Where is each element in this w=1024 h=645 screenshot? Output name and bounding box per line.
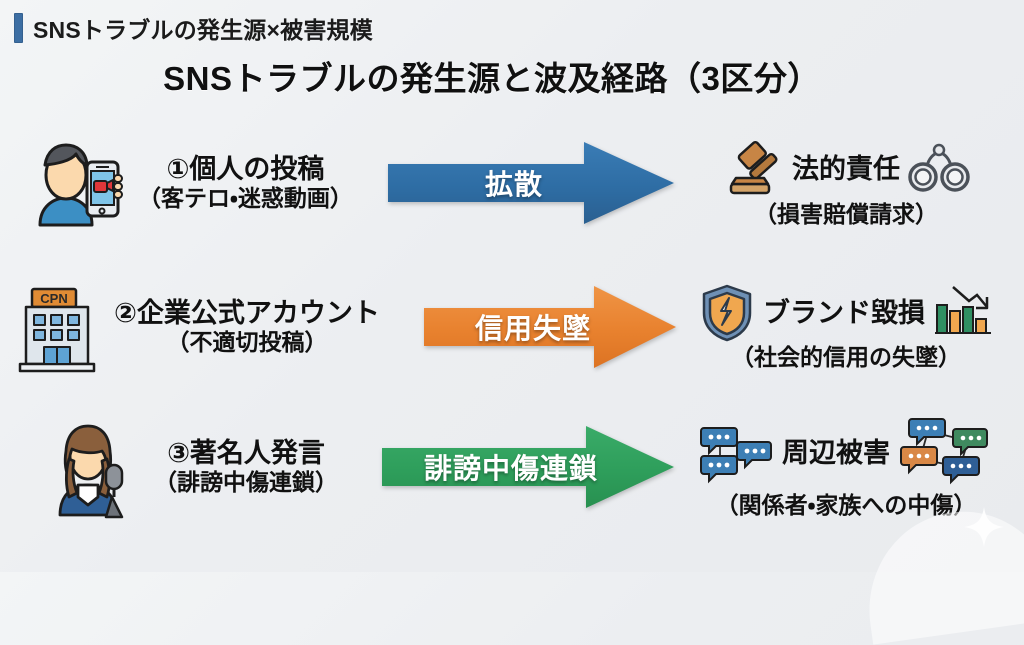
speech-bubble-network-icon bbox=[698, 420, 774, 486]
outcome-main-2: ブランド毀損 bbox=[763, 298, 925, 328]
outcome-main-1: 法的責任 bbox=[792, 154, 900, 184]
arrow-1: 拡散 bbox=[388, 142, 674, 224]
outcome-sub-2: （社会的信用の失墜） bbox=[731, 345, 961, 371]
company-building-icon: CPN bbox=[14, 279, 106, 375]
source-main-1: ①個人の投稿 bbox=[166, 154, 324, 184]
source-main-2: ②企業公式アカウント bbox=[114, 298, 380, 328]
source-sub-3: （誹謗中傷連鎖） bbox=[154, 470, 338, 496]
accent-bar bbox=[14, 13, 23, 43]
outcome-block-2: ブランド毀損 bbox=[668, 272, 1024, 382]
building-sign-text: CPN bbox=[40, 291, 67, 306]
source-block-3: ③著名人発言 （誹謗中傷連鎖） bbox=[48, 412, 388, 522]
source-text-3: ③著名人発言 （誹謗中傷連鎖） bbox=[154, 438, 338, 496]
slide-canvas: SNSトラブルの発生源×被害規模 SNSトラブルの発生源と波及経路（3区分） bbox=[0, 0, 1024, 572]
broken-shield-icon bbox=[699, 283, 755, 343]
source-main-3: ③著名人発言 bbox=[167, 438, 325, 468]
flow-row-3: ③著名人発言 （誹謗中傷連鎖） 誹謗中傷連鎖 bbox=[0, 412, 1024, 522]
arrow-2: 信用失墜 bbox=[424, 286, 676, 368]
declining-bar-chart-icon bbox=[933, 285, 993, 341]
arrow-3: 誹謗中傷連鎖 bbox=[382, 426, 674, 508]
source-text-1: ①個人の投稿 （客テロ・迷惑動画） bbox=[138, 154, 353, 212]
outcome-main-3: 周辺被害 bbox=[782, 438, 890, 468]
kicker-text: SNSトラブルの発生源×被害規模 bbox=[33, 11, 373, 45]
woman-microphone-icon bbox=[48, 415, 146, 519]
outcome-sub-1: （損害賠償請求） bbox=[754, 202, 938, 228]
flow-row-1: ①個人の投稿 （客テロ・迷惑動画） 拡散 bbox=[0, 128, 1024, 238]
gavel-icon bbox=[722, 138, 784, 200]
handcuffs-icon bbox=[908, 143, 970, 195]
source-text-2: ②企業公式アカウント （不適切投稿） bbox=[114, 298, 380, 356]
kicker: SNSトラブルの発生源×被害規模 bbox=[14, 11, 373, 45]
speech-bubble-network-icon bbox=[898, 415, 994, 491]
flow-row-2: CPN ②企業公式アカウント （不適切投稿） 信用失墜 bbox=[0, 272, 1024, 382]
outcome-block-1: 法的責任 （損害賠償請求） bbox=[668, 128, 1024, 238]
source-block-2: CPN ②企業公式アカウント （不適切投稿） bbox=[14, 272, 414, 382]
person-smartphone-icon bbox=[26, 135, 130, 231]
source-sub-1: （客テロ・迷惑動画） bbox=[138, 186, 353, 212]
source-sub-2: （不適切投稿） bbox=[166, 330, 327, 356]
page-title: SNSトラブルの発生源と波及経路（3区分） bbox=[0, 52, 1024, 100]
sparkle-icon bbox=[962, 505, 1006, 554]
source-block-1: ①個人の投稿 （客テロ・迷惑動画） bbox=[26, 128, 386, 238]
